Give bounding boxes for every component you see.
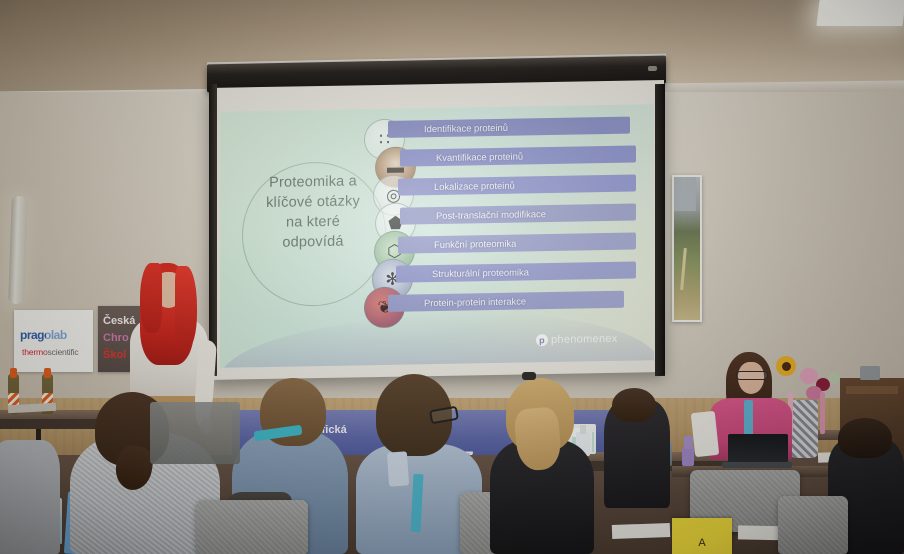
projected-slide: Proteomika a klíčové otázky na které odp…: [220, 104, 654, 368]
pragolab-logo-text: pragolab: [20, 328, 67, 342]
paper-left-of-card: [612, 523, 670, 539]
purple-cup: [682, 447, 694, 466]
ceska-line-3: Škol: [103, 349, 126, 361]
chair-center-left-texture: [196, 500, 308, 554]
wine-bottle-2-cap: [44, 368, 51, 378]
pink-flower-1: [800, 368, 818, 384]
cabinet-molding: [846, 386, 898, 394]
wine-bottle-1-cap: [10, 368, 17, 378]
screen-right-edge: [655, 84, 665, 376]
projector-glow: [220, 104, 654, 368]
table-card-a: A: [672, 518, 732, 554]
chair-far-right-texture: [778, 496, 848, 554]
ribbon: [820, 392, 825, 434]
ceska-line-2: Chro: [103, 332, 129, 344]
sunflower-center: [782, 362, 791, 371]
ceiling-light-panel: [816, 0, 904, 26]
green-filler-flower: [828, 372, 840, 384]
thermoscientific-logo-text: thermoscientific: [22, 347, 79, 357]
ceska-line-1: Česká: [103, 315, 135, 327]
sanitizer-pump: [580, 425, 586, 434]
screen-housing-knob: [648, 66, 657, 71]
attendee-3-collar: [387, 451, 409, 486]
screen-left-edge: [209, 84, 217, 376]
white-box-on-table: [691, 411, 719, 457]
attendee-5-head: [612, 388, 656, 422]
table-card-letter: A: [672, 537, 732, 549]
wall-picture-sky: [674, 177, 696, 211]
speaker-hair-left-strand: [140, 263, 162, 333]
attendee-6-head: [838, 418, 892, 458]
speaker-hair-right-strand: [175, 266, 197, 348]
banner-pragolab: pragolab thermoscientific: [14, 310, 93, 372]
flower-vase: [790, 400, 818, 458]
photograph-scene: Proteomika a klíčové otázky na které odp…: [0, 0, 904, 554]
chair-center-left: [196, 500, 308, 554]
bench-seat: [150, 402, 240, 464]
cabinet-faucet: [860, 366, 880, 380]
staff-lanyard: [744, 400, 753, 438]
attendee-4-hair-tie: [522, 372, 536, 380]
staff-glasses-icon: [736, 371, 768, 380]
chair-far-right: [778, 496, 848, 554]
laptop-base: [722, 462, 792, 468]
small-purple-cup: [684, 436, 693, 449]
attendee-0-body: [0, 440, 60, 554]
